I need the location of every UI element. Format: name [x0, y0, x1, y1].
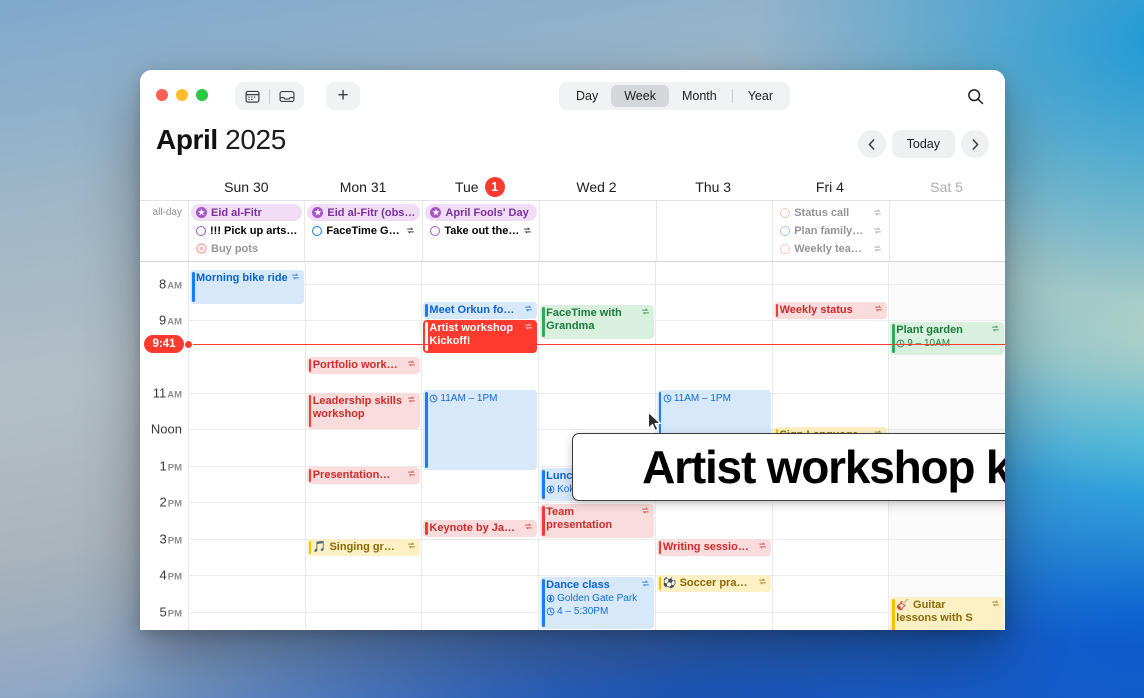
segment-divider [732, 89, 733, 103]
event-title: FaceTime with Grandma [546, 307, 638, 333]
view-year[interactable]: Year [735, 85, 786, 107]
hour-gridline [889, 320, 1005, 321]
view-day[interactable]: Day [563, 85, 611, 107]
event-color-bar [542, 470, 545, 499]
all-day-event-title: Take out the… [444, 225, 519, 237]
hour-gridline [189, 320, 305, 321]
view-toggle-group [235, 82, 304, 110]
inbox-icon[interactable] [270, 82, 304, 110]
day-header-wed[interactable]: Wed 2 [538, 174, 655, 200]
next-week-button[interactable] [961, 130, 989, 158]
calendar-event[interactable]: 🎵 Singing gr… [307, 539, 421, 556]
all-day-event-title: !!! Pick up arts… [210, 225, 297, 237]
hour-gridline [773, 539, 889, 540]
all-day-row: all-day ★Eid al-Fitr!!! Pick up arts…Buy… [140, 200, 1005, 262]
day-label: Wed 2 [576, 179, 616, 195]
hour-gridline [539, 393, 655, 394]
event-color-bar [659, 541, 662, 554]
hour-gridline [306, 502, 422, 503]
day-label: Mon 31 [340, 179, 387, 195]
current-time-label: 9:41 [144, 335, 184, 353]
hour-gridline [306, 612, 422, 613]
hour-gridline [656, 284, 772, 285]
calendar-event[interactable]: Dance classGolden Gate Park4 – 5:30PM [540, 577, 654, 629]
event-color-bar [892, 599, 895, 630]
all-day-col-mon[interactable]: ★Eid al-Fitr (obs…FaceTime G… [304, 201, 422, 261]
calendar-event[interactable]: Team presentation [540, 504, 654, 538]
mouse-cursor [647, 411, 663, 438]
all-day-event-title: Plan family… [794, 225, 868, 237]
year-number: 2025 [225, 124, 286, 155]
add-event-group: + [326, 82, 360, 110]
all-day-label: all-day [140, 201, 188, 261]
magnifier-text: Artist workshop kickoff! [642, 440, 1005, 494]
month-name: April [156, 124, 218, 155]
hour-gridline [539, 502, 655, 503]
today-date-badge: 1 [485, 177, 505, 197]
event-title: Meet Orkun fo… [429, 304, 521, 317]
view-segmented-control: Day Week Month Year [559, 82, 790, 110]
hour-gridline [539, 575, 655, 576]
event-color-bar [776, 304, 779, 317]
hour-gridline [306, 284, 422, 285]
hour-gridline [889, 502, 1005, 503]
calendar-event[interactable]: Writing sessio… [657, 539, 771, 556]
event-title: Plant garden [896, 324, 988, 337]
event-title: Writing sessio… [663, 541, 755, 554]
hour-gridline [306, 575, 422, 576]
time-label: 8AM [159, 277, 182, 292]
current-time-dot [184, 340, 193, 349]
event-color-bar [425, 322, 428, 351]
hour-gridline [189, 393, 305, 394]
prev-week-button[interactable] [858, 130, 886, 158]
date-navigation: Today [858, 130, 989, 158]
hour-gridline [773, 502, 889, 503]
day-header-mon[interactable]: Mon 31 [305, 174, 422, 200]
all-day-event[interactable]: Plan family… [775, 222, 886, 239]
calendar-event[interactable]: 🎸 Guitar lessons with S [890, 597, 1004, 630]
hour-gridline [773, 612, 889, 613]
event-time: 11AM – 1PM [663, 392, 767, 405]
reminder-completed-icon [196, 243, 207, 254]
hour-gridline [889, 539, 1005, 540]
day-column-tue[interactable]: Meet Orkun fo…Artist workshop Kickoff!11… [421, 262, 538, 630]
day-header-fri[interactable]: Fri 4 [772, 174, 889, 200]
page-title: April 2025 [156, 124, 286, 156]
hour-gridline [773, 393, 889, 394]
all-day-event[interactable]: Weekly tea… [775, 240, 886, 257]
calendar-window: + Day Week Month Year April 2025 Today [140, 70, 1005, 630]
view-month[interactable]: Month [669, 85, 730, 107]
hour-gridline [306, 429, 422, 430]
hour-gridline [189, 612, 305, 613]
all-day-event[interactable]: ★Eid al-Fitr [191, 204, 302, 221]
reminder-circle-icon [196, 226, 206, 236]
hour-gridline [656, 612, 772, 613]
reminder-circle-icon [780, 208, 790, 218]
event-color-bar [192, 272, 195, 302]
day-header-thu[interactable]: Thu 3 [655, 174, 772, 200]
hour-gridline [189, 539, 305, 540]
all-day-event-title: Status call [794, 207, 868, 219]
time-label: 9AM [159, 313, 182, 328]
event-color-bar [309, 359, 312, 372]
all-day-col-wed[interactable] [539, 201, 655, 261]
hour-gridline [422, 502, 538, 503]
time-label: 1PM [160, 459, 182, 474]
hour-gridline [539, 429, 655, 430]
hour-gridline [189, 466, 305, 467]
event-color-bar [309, 541, 312, 554]
all-day-event-title: FaceTime G… [326, 225, 402, 237]
day-column-mon[interactable]: Portfolio work…Leadership skills worksho… [305, 262, 422, 630]
event-color-bar [542, 307, 545, 337]
event-color-bar [425, 304, 428, 317]
all-day-event[interactable]: !!! Pick up arts… [191, 222, 302, 239]
event-color-bar [542, 506, 545, 536]
day-label: Sat 5 [930, 179, 963, 195]
event-color-bar [309, 395, 312, 427]
hour-gridline [889, 429, 1005, 430]
all-day-event[interactable]: Status call [775, 204, 886, 221]
event-color-bar [542, 579, 545, 627]
all-day-col-fri[interactable]: Status callPlan family…Weekly tea… [772, 201, 888, 261]
hour-gridline [889, 284, 1005, 285]
reminder-circle-icon [780, 226, 790, 236]
event-title: Portfolio work… [313, 359, 405, 372]
day-header-tue[interactable]: Tue 1 [421, 174, 538, 200]
reminder-circle-icon [312, 226, 322, 236]
close-button[interactable] [156, 89, 168, 101]
calendar-event-selected[interactable]: Artist workshop Kickoff! [423, 320, 537, 353]
day-label: Tue [455, 179, 479, 195]
day-header-sun[interactable]: Sun 30 [188, 174, 305, 200]
holiday-star-icon: ★ [430, 207, 441, 218]
view-week[interactable]: Week [611, 85, 669, 107]
hour-gridline [773, 284, 889, 285]
day-label: Sun 30 [224, 179, 268, 195]
hour-gridline [889, 575, 1005, 576]
hour-gridline [189, 575, 305, 576]
calendar-event[interactable]: Plant garden9 – 10AM [890, 322, 1004, 355]
hour-gridline [656, 502, 772, 503]
hour-gridline [306, 320, 422, 321]
calendar-event[interactable]: 11AM – 1PM [423, 390, 537, 470]
time-label: 4PM [160, 568, 182, 583]
reminder-circle-icon [430, 226, 440, 236]
calendar-icon[interactable] [235, 82, 269, 110]
window-controls [156, 89, 208, 101]
event-title: ⚽ Soccer pra… [663, 577, 755, 590]
zoom-button[interactable] [196, 89, 208, 101]
event-title: Dance class [546, 579, 638, 592]
all-day-event-title: Weekly tea… [794, 243, 868, 255]
event-title: Leadership skills workshop [313, 395, 405, 421]
add-event-button[interactable]: + [326, 82, 360, 110]
hour-gridline [889, 393, 1005, 394]
all-day-event[interactable]: FaceTime G… [307, 222, 420, 239]
hour-gridline [189, 502, 305, 503]
all-day-col-tue[interactable]: ★April Fools' DayTake out the… [422, 201, 539, 261]
calendar-event[interactable]: ⚽ Soccer pra… [657, 575, 771, 592]
time-gutter: 8AM9AM11AMNoon1PM2PM3PM4PM5PM [140, 262, 188, 630]
event-title: Keynote by Ja… [429, 522, 521, 535]
hour-gridline [189, 429, 305, 430]
gutter-spacer [140, 174, 188, 200]
hour-gridline [422, 612, 538, 613]
calendar-event[interactable]: Weekly status [774, 302, 888, 319]
event-title: Presentation… [313, 469, 405, 482]
all-day-col-sun[interactable]: ★Eid al-Fitr!!! Pick up arts…Buy pots [188, 201, 304, 261]
all-day-event[interactable]: Take out the… [425, 222, 537, 239]
event-location: Golden Gate Park [546, 592, 650, 605]
hour-gridline [539, 284, 655, 285]
holiday-star-icon: ★ [196, 207, 207, 218]
all-day-event[interactable]: Buy pots [191, 240, 302, 257]
magnifier-tooltip: Artist workshop kickoff! [572, 433, 1005, 501]
day-header-sat[interactable]: Sat 5 [888, 174, 1005, 200]
calendar-event[interactable]: Leadership skills workshop [307, 393, 421, 429]
day-header-row: Sun 30 Mon 31 Tue 1 Wed 2 Thu 3 Fri 4 Sa… [140, 174, 1005, 200]
all-day-event-title: Eid al-Fitr [211, 207, 297, 219]
hour-gridline [773, 575, 889, 576]
event-title: 🎸 Guitar lessons with S [896, 599, 988, 625]
time-label: 11AM [153, 386, 182, 401]
hour-gridline [539, 539, 655, 540]
all-day-col-thu[interactable] [656, 201, 772, 261]
hour-gridline [656, 320, 772, 321]
calendar-event[interactable]: Morning bike ride [190, 270, 304, 304]
window-titlebar: + Day Week Month Year [140, 70, 1005, 122]
reminder-circle-icon [780, 244, 790, 254]
month-header: April 2025 Today [140, 122, 1005, 174]
all-day-event-title: Eid al-Fitr (obs… [327, 207, 415, 219]
hour-gridline [422, 575, 538, 576]
event-title: 🎵 Singing gr… [313, 541, 405, 554]
minimize-button[interactable] [176, 89, 188, 101]
search-icon[interactable] [961, 82, 989, 110]
time-label: 2PM [160, 495, 182, 510]
time-label: Noon [151, 422, 182, 437]
event-color-bar [892, 324, 895, 353]
event-color-bar [425, 522, 428, 535]
all-day-event-title: Buy pots [211, 243, 297, 255]
hour-gridline [422, 284, 538, 285]
all-day-col-sat[interactable] [889, 201, 1005, 261]
time-label: 3PM [160, 532, 182, 547]
event-time: 4 – 5:30PM [546, 605, 650, 618]
calendar-event[interactable]: Meet Orkun fo… [423, 302, 537, 319]
event-color-bar [309, 469, 312, 482]
calendar-event[interactable]: Portfolio work… [307, 357, 421, 374]
event-title: Team presentation [546, 506, 638, 532]
event-title: Morning bike ride [196, 272, 288, 285]
all-day-event-title: April Fools' Day [445, 207, 532, 219]
calendar-event[interactable]: FaceTime with Grandma [540, 305, 654, 339]
all-day-event[interactable]: ★April Fools' Day [425, 204, 537, 221]
all-day-event[interactable]: ★Eid al-Fitr (obs… [307, 204, 420, 221]
hour-gridline [422, 539, 538, 540]
day-column-sun[interactable]: Morning bike ride [188, 262, 305, 630]
event-color-bar [659, 577, 662, 590]
day-label: Thu 3 [695, 179, 731, 195]
hour-gridline [773, 320, 889, 321]
time-label: 5PM [160, 605, 182, 620]
event-color-bar [425, 392, 428, 468]
event-title: Weekly status [780, 304, 872, 317]
event-time: 11AM – 1PM [429, 392, 533, 405]
holiday-star-icon: ★ [312, 207, 323, 218]
calendar-event[interactable]: Keynote by Ja… [423, 520, 537, 537]
today-button[interactable]: Today [892, 130, 955, 158]
current-time-line [188, 344, 1005, 345]
calendar-event[interactable]: Presentation… [307, 467, 421, 484]
day-label: Fri 4 [816, 179, 844, 195]
